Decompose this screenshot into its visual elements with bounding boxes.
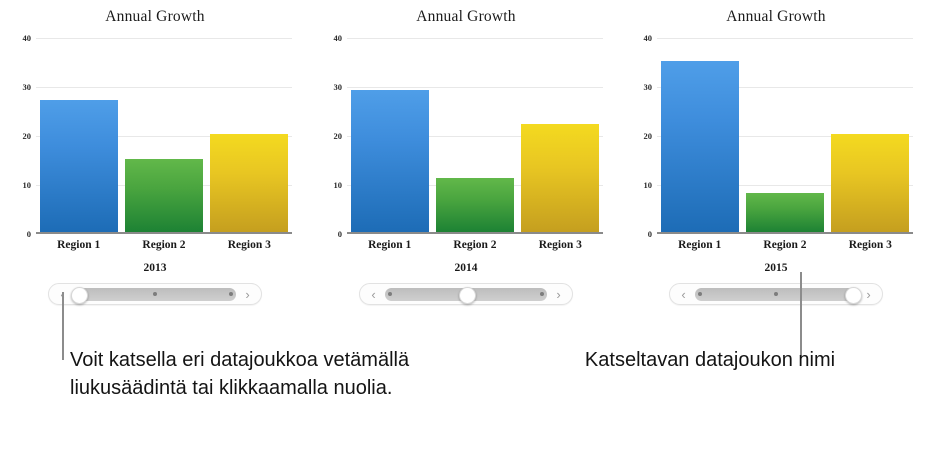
chart-panel-2013: Annual Growth 40 30 20 10 0 (0, 0, 310, 312)
y-axis-tick-0: 0 (648, 229, 652, 239)
dataset-name-label: 2014 (311, 251, 621, 274)
y-axis-tick-40: 40 (23, 33, 32, 43)
y-axis-tick-30: 30 (644, 82, 653, 92)
chevron-right-icon[interactable]: › (238, 284, 257, 304)
bars-group (657, 38, 913, 232)
callout-text-slider: Voit katsella eri datajoukkoa vetämällä … (70, 346, 470, 402)
x-label-region-3: Region 3 (518, 239, 603, 251)
chart-title: Annual Growth (0, 0, 310, 30)
chart-title: Annual Growth (311, 0, 621, 30)
slider-thumb[interactable] (459, 287, 476, 304)
bar-region-3 (521, 124, 599, 232)
bar-slot (828, 38, 913, 232)
slider-track[interactable] (385, 288, 547, 301)
bar-region-3 (831, 134, 909, 232)
y-axis-tick-40: 40 (644, 33, 653, 43)
y-axis-tick-20: 20 (334, 131, 343, 141)
x-label-region-2: Region 2 (121, 239, 206, 251)
slider-tick-dot (540, 292, 544, 296)
bar-slot (207, 38, 292, 232)
chart-panel-2015: Annual Growth 40 30 20 10 0 (621, 0, 931, 312)
chevron-right-icon[interactable]: › (549, 284, 568, 304)
plot-inner: 40 30 20 10 0 (36, 38, 292, 234)
y-axis-tick-40: 40 (334, 33, 343, 43)
callout-text-dataset-name: Katseltavan datajoukon nimi (560, 346, 860, 374)
plot-area: 40 30 20 10 0 (621, 38, 931, 234)
chart-title: Annual Growth (621, 0, 931, 30)
bar-slot (518, 38, 603, 232)
slider-tick-dot (153, 292, 157, 296)
y-axis-tick-10: 10 (334, 180, 343, 190)
y-axis-tick-20: 20 (644, 131, 653, 141)
x-axis-labels: Region 1 Region 2 Region 3 (347, 234, 603, 251)
slider-tick-dot (774, 292, 778, 296)
y-axis-tick-20: 20 (23, 131, 32, 141)
x-label-region-2: Region 2 (432, 239, 517, 251)
chevron-left-icon[interactable]: ‹ (674, 284, 693, 304)
slider-track[interactable] (695, 288, 857, 301)
x-label-region-3: Region 3 (207, 239, 292, 251)
dataset-name-label: 2015 (621, 251, 931, 274)
bar-slot (432, 38, 517, 232)
dataset-name-label: 2013 (0, 251, 310, 274)
dataset-slider[interactable]: ‹ › (48, 283, 262, 305)
callout-leader-line-left (62, 292, 64, 360)
x-label-region-1: Region 1 (657, 239, 742, 251)
bar-region-1 (661, 61, 739, 233)
slider-track[interactable] (74, 288, 236, 301)
bar-slot (36, 38, 121, 232)
bar-region-1 (351, 90, 429, 232)
x-label-region-1: Region 1 (36, 239, 121, 251)
plot-area: 40 30 20 10 0 (311, 38, 621, 234)
bar-slot (121, 38, 206, 232)
chevron-right-icon[interactable]: › (859, 284, 878, 304)
chart-panel-2014: Annual Growth 40 30 20 10 0 (311, 0, 621, 312)
x-axis-labels: Region 1 Region 2 Region 3 (36, 234, 292, 251)
y-axis-tick-10: 10 (23, 180, 32, 190)
plot-inner: 40 30 20 10 0 (347, 38, 603, 234)
bar-region-1 (40, 100, 118, 232)
bar-slot (742, 38, 827, 232)
bar-slot (347, 38, 432, 232)
bar-slot (657, 38, 742, 232)
bars-group (36, 38, 292, 232)
x-axis-labels: Region 1 Region 2 Region 3 (657, 234, 913, 251)
y-axis-tick-10: 10 (644, 180, 653, 190)
x-label-region-1: Region 1 (347, 239, 432, 251)
plot-area: 40 30 20 10 0 (0, 38, 310, 234)
slider-thumb[interactable] (845, 287, 862, 304)
slider-tick-dot (698, 292, 702, 296)
bar-region-2 (436, 178, 514, 232)
bar-region-3 (210, 134, 288, 232)
plot-inner: 40 30 20 10 0 (657, 38, 913, 234)
bars-group (347, 38, 603, 232)
x-label-region-2: Region 2 (742, 239, 827, 251)
dataset-slider[interactable]: ‹ › (669, 283, 883, 305)
chevron-left-icon[interactable]: ‹ (364, 284, 383, 304)
slider-tick-dot (229, 292, 233, 296)
y-axis-tick-0: 0 (27, 229, 31, 239)
bar-region-2 (125, 159, 203, 233)
slider-tick-dot (388, 292, 392, 296)
slider-thumb[interactable] (71, 287, 88, 304)
charts-row: Annual Growth 40 30 20 10 0 (0, 0, 931, 312)
dataset-slider[interactable]: ‹ › (359, 283, 573, 305)
y-axis-tick-0: 0 (338, 229, 342, 239)
y-axis-tick-30: 30 (23, 82, 32, 92)
y-axis-tick-30: 30 (334, 82, 343, 92)
bar-region-2 (746, 193, 824, 232)
x-label-region-3: Region 3 (828, 239, 913, 251)
